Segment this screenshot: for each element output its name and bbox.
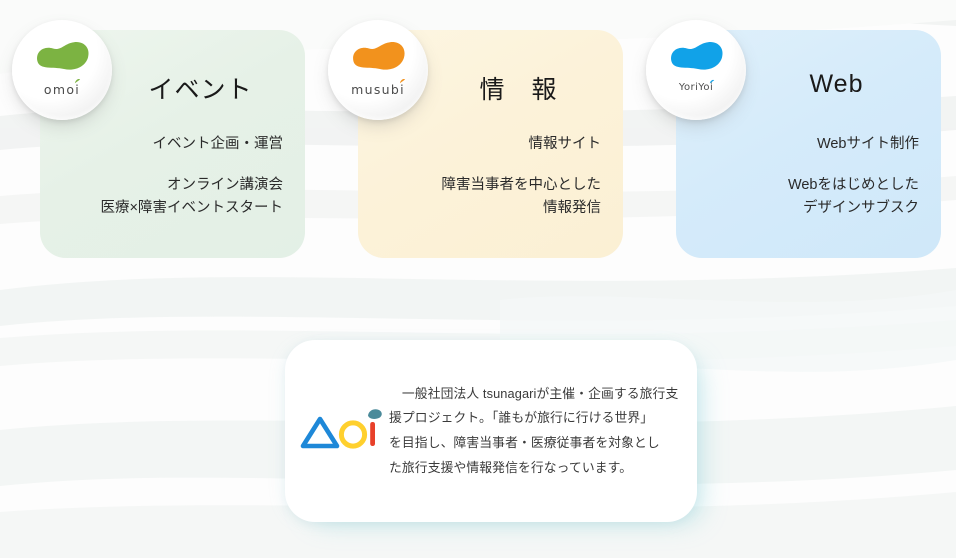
service-sub-line: 障害当事者を中心とした <box>376 174 601 197</box>
brand-word-omoi: omoi <box>44 82 80 97</box>
service-sub-line: デザインサブスク <box>694 197 919 220</box>
service-card-sub-web: Webをはじめとした デザインサブスク <box>694 174 919 221</box>
brand-badge-musubi[interactable]: musubi <box>328 20 428 120</box>
brand-word-yoriyoi: YoriYoi <box>679 82 713 93</box>
service-card-body-event: イベント企画・運営 オンライン講演会 医療×障害イベントスタート <box>58 134 283 221</box>
brand-word-musubi: musubi <box>351 82 405 97</box>
service-card-lead-event: イベント企画・運営 <box>58 134 283 156</box>
brand-word-text: musubi <box>351 82 405 97</box>
aoi-description-line: を目指し、障害当事者・医療従事者を対象とし <box>389 431 678 456</box>
brand-word-text: YoriYoi <box>679 82 713 93</box>
service-cards-row: イベント イベント企画・運営 オンライン講演会 医療×障害イベントスタート 情 … <box>0 0 956 280</box>
aoi-logo <box>293 405 389 457</box>
yoriyoi-accent-dot-icon <box>709 79 715 85</box>
service-card-lead-web: Webサイト制作 <box>694 134 919 156</box>
service-card-body-web: Webサイト制作 Webをはじめとした デザインサブスク <box>694 134 919 221</box>
yoriyoi-blob-logo <box>664 39 728 75</box>
service-sub-line: オンライン講演会 <box>58 174 283 197</box>
aoi-description: 一般社団法人 tsunagariが主催・企画する旅行支 援プロジェクト。「誰もが… <box>389 382 678 480</box>
brand-badge-omoi[interactable]: omoi <box>12 20 112 120</box>
aoi-info-card[interactable]: 一般社団法人 tsunagariが主催・企画する旅行支 援プロジェクト。「誰もが… <box>285 340 697 522</box>
service-card-lead-information: 情報サイト <box>376 134 601 156</box>
service-sub-line: 情報発信 <box>376 197 601 220</box>
brand-badge-yoriyoi[interactable]: YoriYoi <box>646 20 746 120</box>
service-sub-line: Webをはじめとした <box>694 174 919 197</box>
omoi-blob-logo <box>30 39 94 75</box>
service-card-sub-event: オンライン講演会 医療×障害イベントスタート <box>58 174 283 221</box>
service-card-body-information: 情報サイト 障害当事者を中心とした 情報発信 <box>376 134 601 221</box>
musubi-accent-dot-icon <box>399 78 406 85</box>
aoi-description-line: 援プロジェクト。「誰もが旅行に行ける世界」 <box>389 406 678 431</box>
aoi-description-line: 一般社団法人 tsunagariが主催・企画する旅行支 <box>389 382 678 407</box>
service-card-sub-information: 障害当事者を中心とした 情報発信 <box>376 174 601 221</box>
omoi-accent-dot-icon <box>74 78 81 85</box>
aoi-description-line: た旅行支援や情報発信を行なっています。 <box>389 456 678 481</box>
musubi-blob-logo <box>346 39 410 75</box>
service-sub-line: 医療×障害イベントスタート <box>58 197 283 220</box>
